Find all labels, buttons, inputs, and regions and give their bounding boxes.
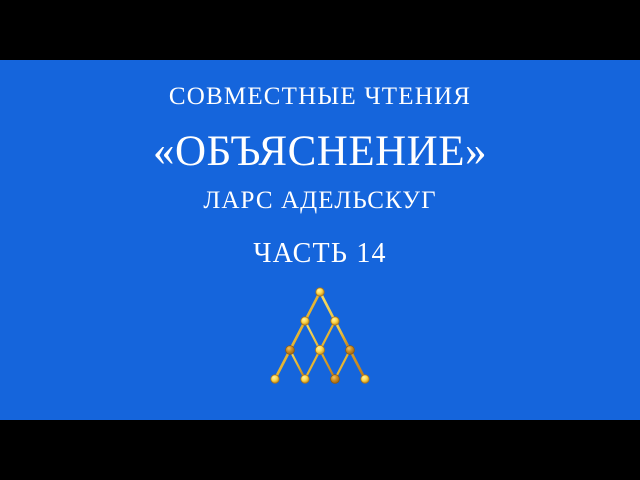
node-row2-right: [331, 317, 339, 325]
node-row3-left: [286, 346, 295, 355]
node-row3-right: [346, 346, 355, 355]
node-row2-left: [301, 317, 309, 325]
slide-content-area: СОВМЕСТНЫЕ ЧТЕНИЯ «ОБЪЯСНЕНИЕ» ЛАРС АДЕЛ…: [0, 60, 640, 420]
video-title-card: СОВМЕСТНЫЕ ЧТЕНИЯ «ОБЪЯСНЕНИЕ» ЛАРС АДЕЛ…: [0, 0, 640, 480]
author-name: ЛАРС АДЕЛЬСКУГ: [0, 188, 640, 213]
node-row4-4: [361, 375, 369, 383]
part-number: ЧАСТЬ 14: [0, 240, 640, 268]
page-title: «ОБЪЯСНЕНИЕ»: [0, 130, 640, 173]
node-apex: [316, 288, 324, 296]
node-row4-3: [331, 375, 340, 384]
letterbox-bar-bottom: [0, 420, 640, 480]
tetractys-triangle-figure: [254, 282, 386, 392]
node-row3-center: [315, 345, 324, 354]
triangle-edges: [275, 292, 365, 379]
node-row4-1: [271, 375, 279, 383]
letterbox-bar-top: [0, 0, 640, 60]
series-kicker: СОВМЕСТНЫЕ ЧТЕНИЯ: [0, 84, 640, 109]
triangle-nodes: [271, 288, 369, 384]
node-row4-2: [301, 375, 309, 383]
